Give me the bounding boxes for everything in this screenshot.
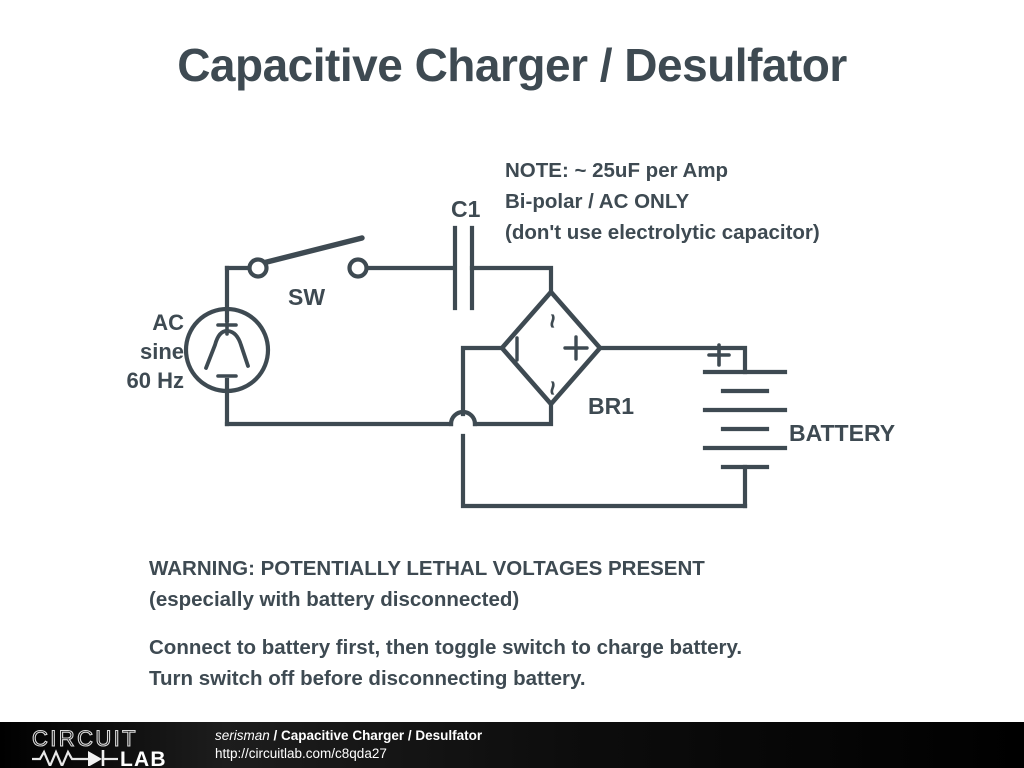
footer-author[interactable]: serisman xyxy=(215,728,270,743)
ac-source-label-line2: sine xyxy=(108,337,184,366)
wire-crossover-hop xyxy=(451,412,475,424)
warning-line-4: Turn switch off before disconnecting bat… xyxy=(149,663,742,694)
footer-bar: CIRCUIT LAB serisman / Capacitive Charge… xyxy=(0,722,1024,768)
footer-credit-line: serisman / Capacitive Charger / Desulfat… xyxy=(215,727,482,745)
switch-label: SW xyxy=(288,284,325,311)
bridge-terminal-bottom-icon: ~ xyxy=(538,380,568,395)
warning-line-1: WARNING: POTENTIALLY LETHAL VOLTAGES PRE… xyxy=(149,553,742,584)
circuitlab-logo[interactable]: CIRCUIT LAB xyxy=(30,726,195,766)
logo-resistor-icon xyxy=(32,752,88,766)
wire-bridge-minus-lower xyxy=(463,436,745,506)
warning-spacer xyxy=(149,615,742,632)
capacitor-label: C1 xyxy=(451,196,480,223)
switch-terminal-right[interactable] xyxy=(350,260,367,277)
bridge-label: BR1 xyxy=(588,393,634,420)
warning-block: WARNING: POTENTIALLY LETHAL VOLTAGES PRE… xyxy=(149,553,742,694)
logo-lab-text: LAB xyxy=(120,748,167,766)
logo-diode-icon xyxy=(88,751,102,766)
note-block: NOTE: ~ 25uF per Amp Bi-polar / AC ONLY … xyxy=(505,155,820,248)
footer-credits: serisman / Capacitive Charger / Desulfat… xyxy=(215,727,482,763)
footer-url[interactable]: http://circuitlab.com/c8qda27 xyxy=(215,745,482,763)
footer-separator: / xyxy=(270,728,281,743)
bridge-terminal-top-icon: ~ xyxy=(538,313,568,328)
note-line-2: Bi-polar / AC ONLY xyxy=(505,186,820,217)
wire-bridge-plus-to-battery xyxy=(600,348,745,372)
ac-sine-glyph xyxy=(206,331,248,368)
ac-source-label-line3: 60 Hz xyxy=(108,366,184,395)
ac-source-label-line1: AC xyxy=(108,308,184,337)
warning-line-2: (especially with battery disconnected) xyxy=(149,584,742,615)
wire-bridge-minus xyxy=(463,348,502,414)
wire-bridge-bottom-ac xyxy=(475,404,551,424)
note-line-3: (don't use electrolytic capacitor) xyxy=(505,217,820,248)
ac-source-label: AC sine 60 Hz xyxy=(108,308,184,395)
footer-project[interactable]: Capacitive Charger / Desulfator xyxy=(281,728,482,743)
switch-terminal-left[interactable] xyxy=(250,260,267,277)
note-line-1: NOTE: ~ 25uF per Amp xyxy=(505,155,820,186)
wire-cap-to-bridge xyxy=(472,268,551,292)
warning-line-3: Connect to battery first, then toggle sw… xyxy=(149,632,742,663)
switch-lever xyxy=(259,238,362,264)
battery-label: BATTERY xyxy=(789,420,895,447)
